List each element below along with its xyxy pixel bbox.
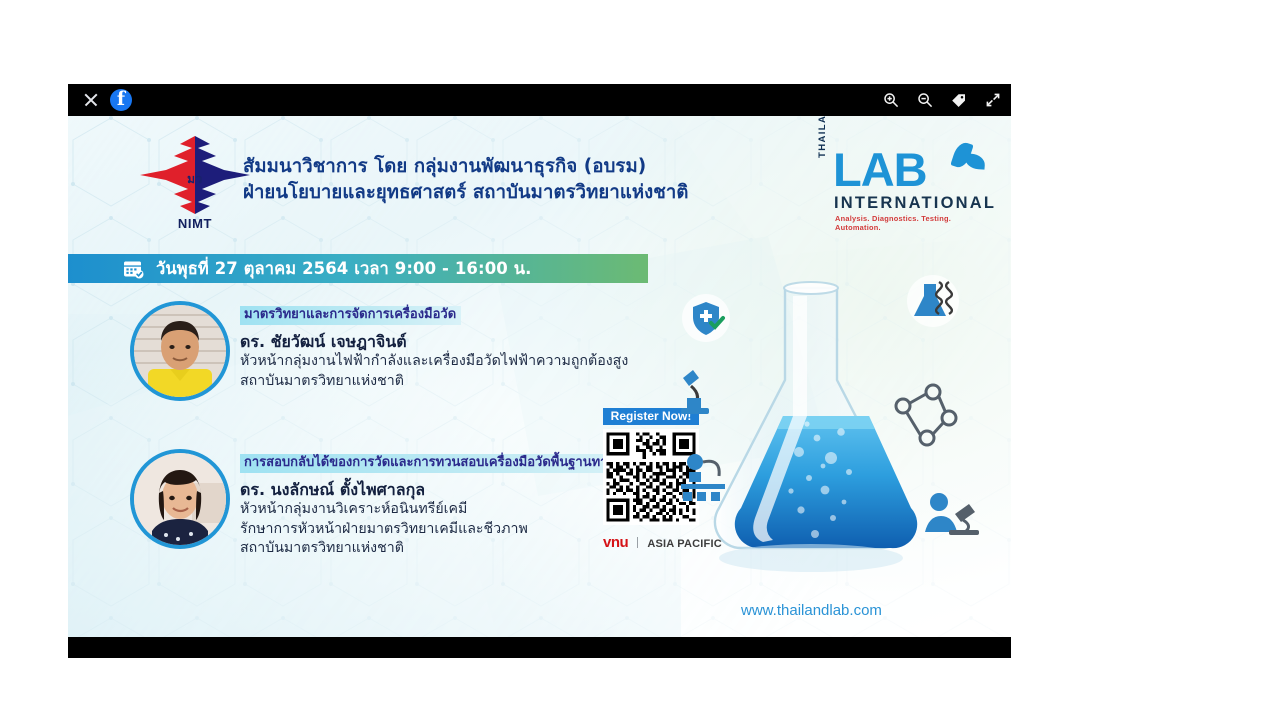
- speaker-2-topic: การสอบกลับได้ของการวัดและการทวนสอบเครื่อ…: [240, 454, 641, 473]
- poster-title-line2: ฝ่ายนโยบายและยุทธศาสตร์ สถาบันมาตรวิทยาแ…: [243, 180, 813, 206]
- viewer-toolbar-left: [82, 84, 132, 116]
- close-icon[interactable]: [82, 91, 100, 109]
- speaker-1-affiliation-2: สถาบันมาตรวิทยาแห่งชาติ: [240, 372, 628, 392]
- thailand-lab-subtitle: INTERNATIONAL: [834, 194, 996, 213]
- speaker-1-topic: มาตรวิทยาและการจัดการเครื่องมือวัด: [240, 306, 461, 325]
- speaker-2-affiliation-2: รักษาการหัวหน้าฝ่ายมาตรวิทยาเคมีและชีวภา…: [240, 520, 641, 540]
- thailand-lab-country: THAILAND: [817, 116, 828, 158]
- thailand-lab-tagline: Analysis. Diagnostics. Testing. Automati…: [835, 214, 983, 232]
- event-date-text: วันพุธที่ 27 ตุลาคม 2564 เวลา 9:00 - 16:…: [156, 256, 531, 282]
- thailand-lab-logo: THAILAND LAB INTERNATIONAL Analysis. Dia…: [815, 136, 983, 232]
- viewer-footer: [68, 637, 1011, 658]
- nimt-logo: มว NIMT: [140, 136, 250, 240]
- microscope-icon: [681, 370, 709, 414]
- scientist-microscope-icon: [925, 493, 979, 535]
- poster-title-line1: สัมมนาวิชาการ โดย กลุ่มงานพัฒนาธุรกิจ (อ…: [243, 154, 813, 180]
- molecule-icon: [896, 385, 956, 445]
- speaker-1-details: มาตรวิทยาและการจัดการเครื่องมือวัด ดร. ช…: [240, 303, 628, 391]
- speaker-2-affiliation-1: หัวหน้ากลุ่มงานวิเคราะห์อนินทรีย์เคมี: [240, 500, 641, 520]
- nimt-logo-mark: มว: [140, 136, 250, 214]
- speaker-1-avatar: [130, 301, 230, 401]
- speaker-2-details: การสอบกลับได้ของการวัดและการทวนสอบเครื่อ…: [240, 451, 641, 559]
- speaker-1-affiliation-1: หัวหน้ากลุ่มงานไฟฟ้ากำลังและเครื่องมือวั…: [240, 352, 628, 372]
- zoom-out-icon[interactable]: [917, 92, 933, 108]
- calendar-icon: [123, 259, 145, 279]
- event-date-bar: วันพุธที่ 27 ตุลาคม 2564 เวลา 9:00 - 16:…: [68, 254, 648, 283]
- viewer-toolbar: [68, 84, 1011, 116]
- facebook-logo-icon[interactable]: [110, 89, 132, 111]
- health-shield-icon: [682, 294, 730, 342]
- tag-icon[interactable]: [951, 92, 967, 108]
- poster-title: สัมมนาวิชาการ โดย กลุ่มงานพัฒนาธุรกิจ (อ…: [243, 154, 813, 206]
- lab-equipment-icon: [681, 454, 725, 501]
- dna-flask-icon: [907, 275, 959, 327]
- poster-image[interactable]: มว NIMT สัมมนาวิชาการ โดย กลุ่มงานพัฒนาธ…: [68, 116, 1011, 637]
- thailand-lab-wordmark: LAB: [833, 144, 927, 196]
- zoom-in-icon[interactable]: [883, 92, 899, 108]
- website-url[interactable]: www.thailandlab.com: [741, 602, 882, 619]
- facebook-photo-viewer: มว NIMT สัมมนาวิชาการ โดย กลุ่มงานพัฒนาธ…: [68, 84, 1011, 658]
- vnu-divider: [637, 537, 638, 548]
- nimt-mark-text: มว: [140, 140, 250, 218]
- viewer-toolbar-right: [883, 84, 1001, 116]
- nimt-logo-name: NIMT: [140, 216, 250, 231]
- speaker-2-name: ดร. นงลักษณ์ ตั้งไพศาลกุล: [240, 480, 641, 500]
- leaf-icon-2: [965, 153, 986, 169]
- speaker-2-affiliation-3: สถาบันมาตรวิทยาแห่งชาติ: [240, 539, 641, 559]
- vnu-wordmark: vnu: [603, 534, 628, 551]
- speaker-2-avatar: [130, 449, 230, 549]
- fullscreen-icon[interactable]: [985, 92, 1001, 108]
- flask-artwork: www.thailandlab.com: [681, 266, 1011, 637]
- speaker-1-name: ดร. ชัยวัฒน์ เจษฎาจินต์: [240, 332, 628, 352]
- poster-header: มว NIMT สัมมนาวิชาการ โดย กลุ่มงานพัฒนาธ…: [68, 116, 1011, 257]
